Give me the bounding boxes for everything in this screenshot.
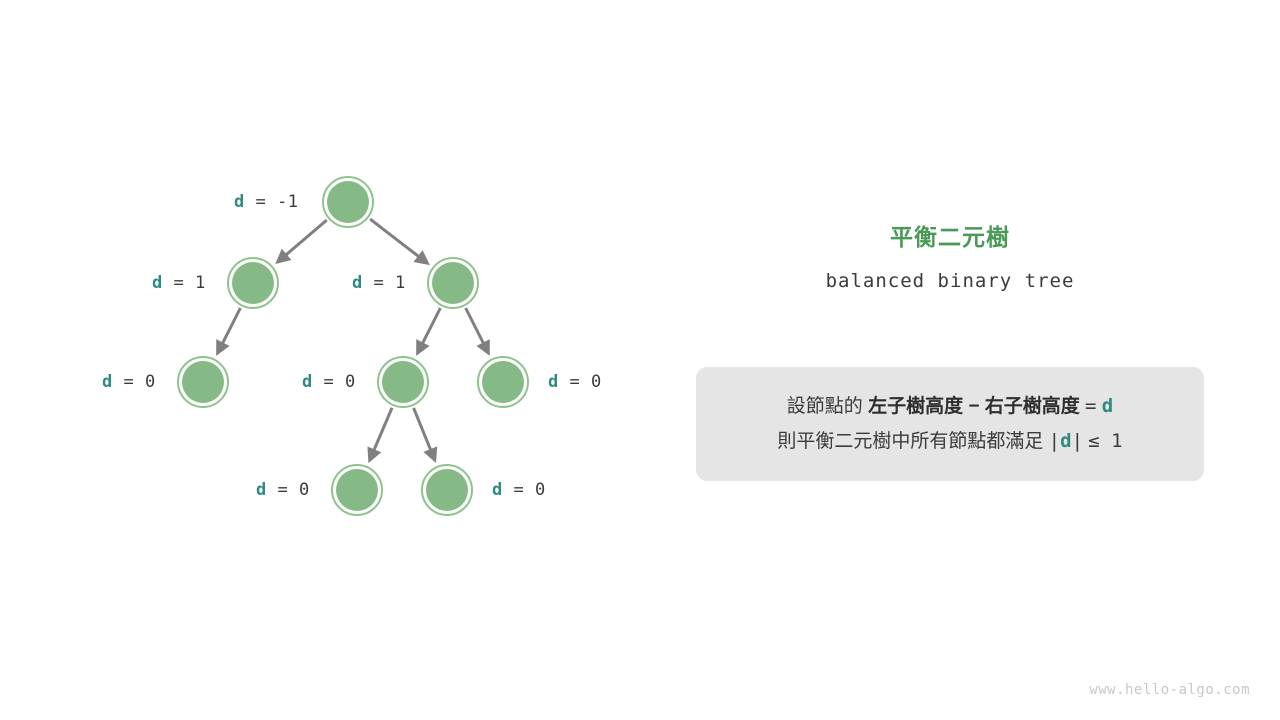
node-balance-label: d = -1 [234,192,298,212]
tree-edge [466,308,488,352]
tree-node-fill [382,361,424,403]
node-balance-value: = 0 [267,480,310,500]
tree-node[interactable] [422,465,472,515]
node-balance-variable: d [234,192,245,212]
tree-node-fill [336,469,378,511]
tree-node-fill [327,181,369,223]
node-balance-variable: d [352,273,363,293]
definition-line1-prefix: 設節點的 [787,396,863,417]
node-balance-variable: d [492,480,503,500]
tree-node-fill [426,469,468,511]
tree-node-fill [232,262,274,304]
tree-node[interactable] [378,357,428,407]
tree-node-fill [482,361,524,403]
tree-edge [279,220,327,261]
tree-node[interactable] [332,465,382,515]
definition-line2-prefix: 則平衡二元樹中所有節點都滿足 [777,431,1043,452]
node-balance-label: d = 1 [352,273,406,293]
definition-line1-variable: d [1102,395,1113,417]
node-balance-variable: d [256,480,267,500]
definition-line2-variable: d [1060,430,1071,452]
tree-node-fill [182,361,224,403]
definition-line2-relation: ≤ 1 [1088,430,1122,452]
info-panel: 平衡二元樹 balanced binary tree 設節點的 左子樹高度 − … [696,222,1204,292]
node-balance-label: d = 0 [548,372,602,392]
definition-line2-bar-open: | [1049,430,1060,452]
edge-layer [218,219,487,459]
node-balance-label: d = 0 [302,372,356,392]
tree-node[interactable] [178,357,228,407]
node-balance-label: d = 0 [256,480,310,500]
site-watermark: www.hello-algo.com [1089,682,1250,698]
node-balance-variable: d [102,372,113,392]
page-subtitle: balanced binary tree [696,270,1204,292]
tree-edge [370,219,426,262]
definition-line1-bold: 左子樹高度 − 右子樹高度 [868,396,1080,417]
definition-box: 設節點的 左子樹高度 − 右子樹高度 = d 則平衡二元樹中所有節點都滿足 |d… [696,367,1204,481]
node-balance-value: = -1 [245,192,299,212]
definition-line-2: 則平衡二元樹中所有節點都滿足 |d| ≤ 1 [696,424,1204,459]
node-balance-label: d = 0 [492,480,546,500]
page-title: 平衡二元樹 [696,222,1204,252]
node-balance-label: d = 0 [102,372,156,392]
definition-line1-equals: = [1085,395,1096,417]
node-balance-value: = 1 [163,273,206,293]
tree-node[interactable] [428,258,478,308]
node-balance-value: = 0 [559,372,602,392]
node-balance-variable: d [302,372,313,392]
tree-edge [370,408,392,459]
definition-line2-bar-close: | [1072,430,1083,452]
node-balance-variable: d [548,372,559,392]
binary-tree-diagram [0,0,680,620]
node-balance-value: = 0 [503,480,546,500]
node-balance-value: = 0 [313,372,356,392]
node-layer [178,177,528,515]
tree-edge [414,408,435,459]
node-balance-value: = 0 [113,372,156,392]
tree-node[interactable] [478,357,528,407]
tree-edge [418,308,440,352]
node-balance-variable: d [152,273,163,293]
node-balance-label: d = 1 [152,273,206,293]
tree-edge [218,308,240,352]
node-balance-value: = 1 [363,273,406,293]
definition-line-1: 設節點的 左子樹高度 − 右子樹高度 = d [696,389,1204,424]
tree-node[interactable] [228,258,278,308]
tree-node[interactable] [323,177,373,227]
tree-node-fill [432,262,474,304]
